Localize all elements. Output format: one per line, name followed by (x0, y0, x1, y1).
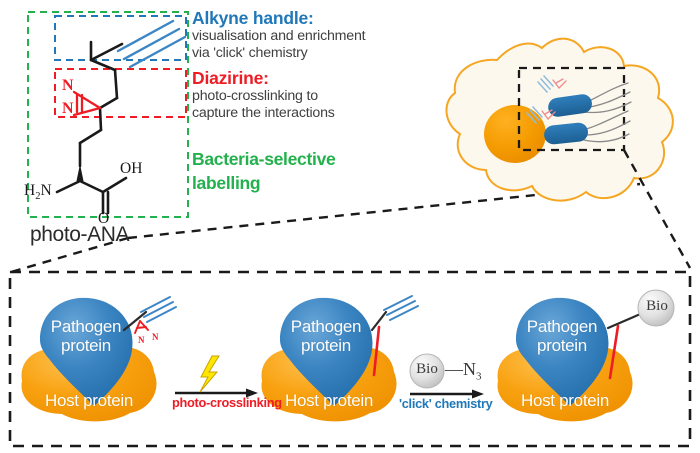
amino-acid-backbone (57, 178, 126, 213)
pathogen-protein-label-3-line2: protein (495, 337, 629, 355)
bio-reagent-label: Bio (410, 361, 444, 377)
pathogen-protein-label-2-line2: protein (259, 337, 393, 355)
annotation-alkyne-line2: via 'click' chemistry (192, 46, 308, 61)
annotation-bacteria-line1: labelling (192, 174, 260, 193)
arrow-click-chemistry-label: 'click' chemistry (399, 397, 492, 411)
host-protein-label-3: Host protein (486, 392, 644, 410)
pathogen-protein-label-3-line1: Pathogen (495, 318, 629, 336)
diazirine-nitrogen-bottom-label: N (62, 100, 74, 117)
lightning-bolt-icon (200, 356, 219, 392)
alkyne-handle-box (55, 16, 186, 60)
host-cell-membrane (446, 39, 672, 201)
annotation-diazirine-heading: Diazirine: (192, 69, 269, 88)
arrow-photo-crosslinking (175, 356, 258, 398)
host-protein-label-1: Host protein (10, 392, 168, 410)
figure-root: Alkyne handle: visualisation and enrichm… (0, 0, 700, 453)
amine-label: H2N (24, 183, 52, 202)
probe-diazirine-n-right-1: N (152, 333, 159, 343)
probe-alkyne-2 (384, 296, 418, 320)
photo-ana-structure (80, 42, 117, 166)
annotation-diazirine-line2: capture the interactions (192, 106, 335, 121)
pathogen-protein-label-2-line1: Pathogen (259, 318, 393, 336)
hydroxyl-label: OH (120, 161, 142, 178)
molecule-caption: photo-ANA (30, 224, 129, 247)
biotin-label: Bio (639, 298, 675, 314)
stereo-wedge (77, 164, 84, 181)
cell-nucleus (484, 105, 546, 163)
pathogen-protein-label-1-line1: Pathogen (19, 318, 153, 336)
annotation-diazirine-line1: photo-crosslinking to (192, 89, 318, 104)
annotation-alkyne-line1: visualisation and enrichment (192, 29, 365, 44)
pathogen-protein-label-1-line2: protein (19, 337, 153, 355)
probe-diazirine-n-left-1: N (138, 336, 145, 346)
bacteria-selective-box (28, 12, 188, 217)
annotation-bacteria-heading: Bacteria-selective (192, 150, 335, 169)
diazirine-nitrogen-top-label: N (62, 77, 74, 94)
annotation-alkyne-heading: Alkyne handle: (192, 9, 314, 28)
host-protein-label-2: Host protein (250, 392, 408, 410)
bio-reagent-azide-label: —N3 (445, 360, 482, 383)
diazirine-ring-icon (74, 92, 100, 115)
